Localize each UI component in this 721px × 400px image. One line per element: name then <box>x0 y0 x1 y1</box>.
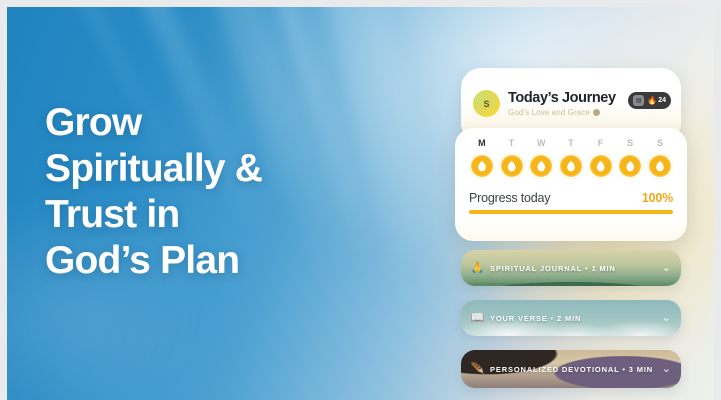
day-streak-row <box>467 153 675 179</box>
chevron-down-icon[interactable]: ⌄ <box>662 263 671 274</box>
day-letter-fri: F <box>588 138 614 148</box>
avatar[interactable]: S <box>473 90 500 117</box>
activity-row: 🪶 PERSONALIZED DEVOTIONAL • 3 MIN ⌄ <box>471 363 671 376</box>
frame-border-left <box>0 0 7 400</box>
flame-drop-icon[interactable] <box>617 153 643 179</box>
activity-row: 📖 YOUR VERSE • 2 MIN ⌄ <box>471 312 671 325</box>
praying-hands-icon: 🙏 <box>471 262 484 275</box>
streak-flame-group: 🔥 24 <box>647 97 666 105</box>
headline-line-1: Grow <box>45 100 375 146</box>
day-letter-row: M T W T F S S <box>467 138 675 148</box>
flame-drop-icon[interactable] <box>588 153 614 179</box>
headline-line-2: Spiritually & <box>45 146 375 192</box>
frame-border-top <box>0 0 721 7</box>
flame-drop-icon[interactable] <box>558 153 584 179</box>
day-letter-sat: S <box>617 138 643 148</box>
activity-card-spiritual-journal[interactable]: 🙏 SPIRITUAL JOURNAL • 1 MIN ⌄ <box>461 250 681 286</box>
chevron-down-icon[interactable]: ⌄ <box>662 364 671 375</box>
progress-label: Progress today <box>469 191 550 205</box>
activity-row: 🙏 SPIRITUAL JOURNAL • 1 MIN ⌄ <box>471 262 671 275</box>
flame-drop-icon[interactable] <box>647 153 673 179</box>
open-book-icon: 📖 <box>471 312 484 325</box>
promo-banner: Grow Spiritually & Trust in God’s Plan S… <box>0 0 721 400</box>
streak-count: 24 <box>658 97 666 104</box>
progress-bar-track <box>469 210 673 214</box>
day-letter-thu: T <box>558 138 584 148</box>
page-title: Grow Spiritually & Trust in God’s Plan <box>45 100 375 284</box>
activity-label: YOUR VERSE • 2 MIN <box>490 314 656 323</box>
info-dot-icon <box>593 109 600 116</box>
journey-subtitle: God’s Love and Grace <box>508 108 590 117</box>
flame-drop-icon[interactable] <box>528 153 554 179</box>
day-letter-sun: S <box>647 138 673 148</box>
journey-title-wrap: Today’s Journey God’s Love and Grace <box>508 90 620 117</box>
app-preview: S Today’s Journey God’s Love and Grace ▤… <box>455 68 687 400</box>
headline-line-4: God’s Plan <box>45 238 375 284</box>
flame-drop-icon[interactable] <box>469 153 495 179</box>
journey-title: Today’s Journey <box>508 90 620 107</box>
journey-header-row: S Today’s Journey God’s Love and Grace ▤… <box>461 68 681 117</box>
journey-subtitle-row: God’s Love and Grace <box>508 108 620 117</box>
headline-line-3: Trust in <box>45 192 375 238</box>
day-letter-tue: T <box>499 138 525 148</box>
activity-card-your-verse[interactable]: 📖 YOUR VERSE • 2 MIN ⌄ <box>461 300 681 336</box>
activity-label: PERSONALIZED DEVOTIONAL • 3 MIN <box>490 365 656 374</box>
day-letter-mon: M <box>469 138 495 148</box>
feather-quill-icon: 🪶 <box>471 363 484 376</box>
flame-icon: 🔥 <box>647 97 657 105</box>
activity-label: SPIRITUAL JOURNAL • 1 MIN <box>490 264 656 273</box>
calendar-icon: ▤ <box>633 95 644 106</box>
activity-card-personalized-devotional[interactable]: 🪶 PERSONALIZED DEVOTIONAL • 3 MIN ⌄ <box>461 350 681 388</box>
weekly-progress-card: M T W T F S S Progress today 100% <box>455 128 687 241</box>
progress-value: 100% <box>642 191 673 205</box>
progress-row: Progress today 100% <box>467 191 675 205</box>
flame-drop-icon[interactable] <box>499 153 525 179</box>
streak-badge[interactable]: ▤ 🔥 24 <box>628 92 671 109</box>
frame-border-right <box>714 0 721 400</box>
chevron-down-icon[interactable]: ⌄ <box>662 313 671 324</box>
day-letter-wed: W <box>528 138 554 148</box>
progress-bar-fill <box>469 210 673 214</box>
